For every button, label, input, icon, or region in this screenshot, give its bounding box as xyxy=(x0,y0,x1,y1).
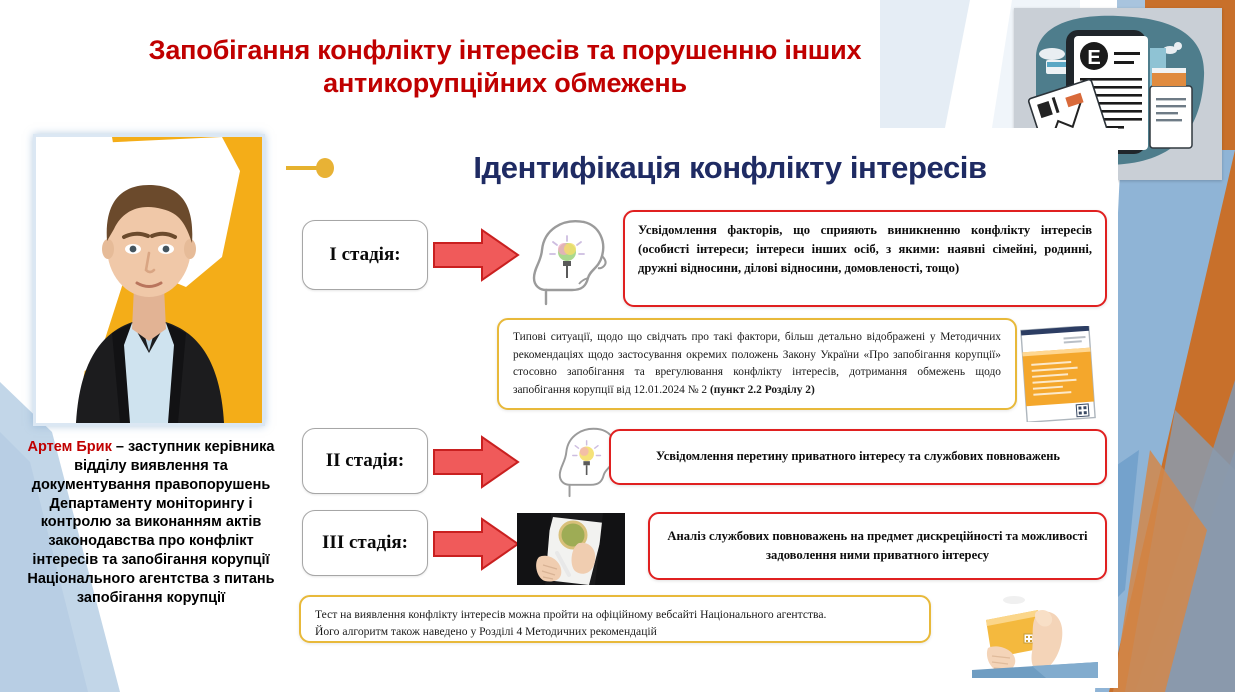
stage-1-text-box: Усвідомлення факторів, що сприяють виник… xyxy=(623,210,1107,307)
stage-1-text: Усвідомлення факторів, що сприяють виник… xyxy=(625,212,1105,287)
page-title-line-2: антикорупційних обмежень xyxy=(40,67,970,100)
gold-bullet-marker xyxy=(286,156,334,180)
presentation-slide: E xyxy=(0,0,1235,692)
speaker-portrait-image xyxy=(36,137,262,423)
stage-chip-1: I стадія: xyxy=(302,220,428,290)
note-box: Типові ситуації, щодо що свідчать про та… xyxy=(497,318,1017,410)
speaker-name: Артем Брик xyxy=(28,439,112,455)
stage-3-text-box: Аналіз службових повноважень на предмет … xyxy=(648,512,1107,580)
hand-holding-card-icon xyxy=(972,586,1098,678)
svg-text:E: E xyxy=(1087,47,1100,69)
arrow-right-icon-1 xyxy=(432,227,520,283)
speaker-caption: Артем Брик – заступник керівника відділу… xyxy=(16,438,286,608)
stage-3-text: Аналіз службових повноважень на предмет … xyxy=(650,514,1105,578)
stage-2-text: Усвідомлення перетину приватного інтерес… xyxy=(611,431,1105,483)
stage-2-text-box: Усвідомлення перетину приватного інтерес… xyxy=(609,429,1107,485)
arrow-right-icon-2 xyxy=(432,434,520,490)
footer-note-line-2: Його алгоритм також наведено у Розділі 4… xyxy=(315,623,915,640)
arrow-right-icon-3 xyxy=(432,516,520,572)
magnifier-document-photo xyxy=(517,513,625,585)
document-cover-icon xyxy=(1018,326,1098,422)
stage-chip-3-label: III стадія: xyxy=(322,532,408,554)
footer-note-body: Тест на виявлення конфлікту інтересів мо… xyxy=(301,597,929,650)
stage-chip-2: II стадія: xyxy=(302,428,428,494)
stage-chip-1-label: I стадія: xyxy=(329,244,400,266)
speaker-description: – заступник керівника відділу виявлення … xyxy=(27,439,274,606)
head-lightbulb-icon-1 xyxy=(522,216,608,308)
content-title: Ідентифікація конфлікту інтересів xyxy=(430,150,1030,186)
methodical-recommendations-thumbnail xyxy=(1018,326,1098,422)
note-box-emphasis: (пункт 2.2 Розділу 2) xyxy=(710,384,815,396)
footer-note-line-1: Тест на виявлення конфлікту інтересів мо… xyxy=(315,606,915,623)
speaker-photo xyxy=(33,134,265,426)
footer-note-box: Тест на виявлення конфлікту інтересів мо… xyxy=(299,595,931,643)
page-title: Запобігання конфлікту інтересів та поруш… xyxy=(40,34,970,100)
hands-magnifier-icon xyxy=(517,513,625,585)
note-box-body: Типові ситуації, щодо що свідчать про та… xyxy=(499,320,1015,409)
page-title-line-1: Запобігання конфлікту інтересів та поруш… xyxy=(40,34,970,67)
stage-chip-3: III стадія: xyxy=(302,510,428,576)
stage-chip-2-label: II стадія: xyxy=(326,450,405,472)
hand-card-photo xyxy=(972,586,1098,678)
